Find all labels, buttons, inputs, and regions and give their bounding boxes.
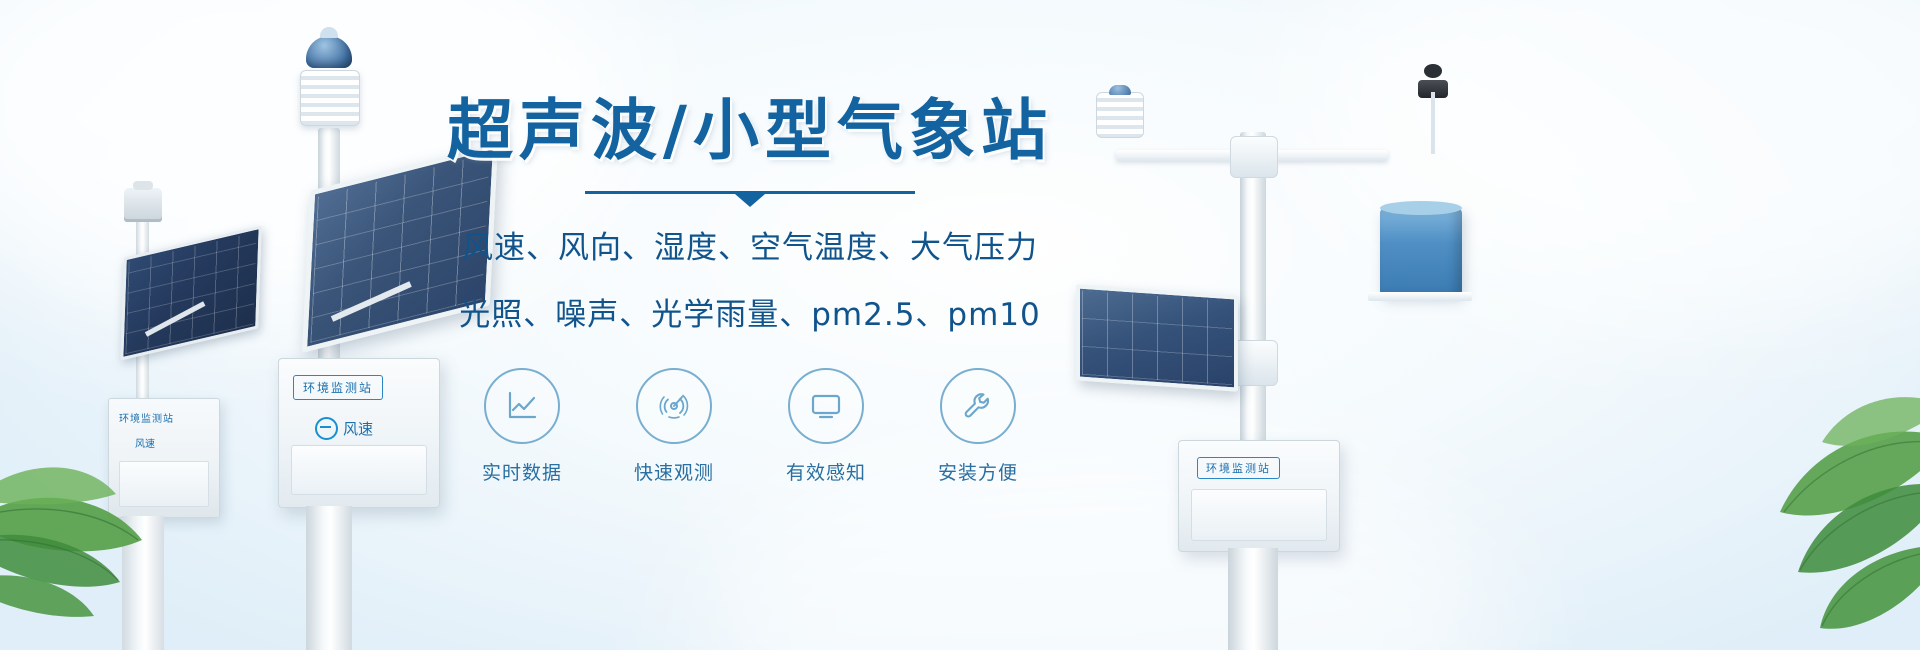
feature-icon-circle [788,368,864,444]
radiation-shield-sensor-icon [124,188,162,222]
rain-gauge-icon [1380,208,1462,296]
cabinet-tag-label: 环境监测站 [293,375,383,400]
divider-triangle-icon [735,194,765,207]
feature-label: 快速观测 [634,458,714,485]
ultrasonic-sensor-icon [1096,92,1144,138]
title-divider [585,191,915,207]
feature-item-easy-install[interactable]: 安装方便 [926,368,1030,485]
control-cabinet: 环境监测站 风速 [278,358,440,508]
feature-item-fast-observation[interactable]: 快速观测 [622,368,726,485]
wrench-icon [958,386,998,426]
monitor-screen-icon [806,386,846,426]
radiation-shield-sensor-icon [300,70,360,126]
brand-mark-icon [315,417,338,440]
instrument-shelf [1368,292,1472,301]
control-cabinet: 环境监测站 [1178,440,1340,552]
cabinet-door [1191,489,1327,541]
anemometer-sensor-icon [1418,62,1448,154]
feature-label: 安装方便 [938,458,1018,485]
brand-logo: 风速 [315,417,373,440]
anemometer-stem [1431,92,1435,154]
weather-station-hero-banner: 环境监测站 风速 环境监测站 风速 超声波/小型气象站 风速、风向、湿度、空气 [0,0,1920,650]
feature-item-effective-sensing[interactable]: 有效感知 [774,368,878,485]
line-chart-icon [502,386,542,426]
palm-leaf-left-decoration [0,390,210,620]
subtitle-line-2: 光照、噪声、光学雨量、pm2.5、pm10 [430,290,1070,340]
mast-collar-upper [1230,136,1278,178]
feature-icon-circle [484,368,560,444]
feature-label: 有效感知 [786,458,866,485]
solar-panel [1076,284,1238,391]
palm-leaf-right-decoration [1630,350,1920,640]
brand-logo-label: 风速 [343,418,373,439]
weather-station-right: 环境监测站 [1060,40,1480,650]
feature-label: 实时数据 [482,458,562,485]
anemometer-cup [1424,64,1442,78]
hero-content: 超声波/小型气象站 风速、风向、湿度、空气温度、大气压力 光照、噪声、光学雨量、… [430,96,1070,485]
ultrasonic-dome-sensor-icon [306,36,352,68]
feature-icon-circle [636,368,712,444]
station-base-pole [306,506,352,650]
page-title: 超声波/小型气象站 [430,96,1070,165]
feature-item-realtime-data[interactable]: 实时数据 [470,368,574,485]
feature-list: 实时数据 快速观测 [430,368,1070,485]
station-base-pole [1228,548,1278,650]
radar-signal-icon [654,386,694,426]
subtitle-line-1: 风速、风向、湿度、空气温度、大气压力 [430,223,1070,273]
cabinet-tag-label: 环境监测站 [1197,457,1280,479]
cabinet-door [291,445,427,495]
feature-icon-circle [940,368,1016,444]
